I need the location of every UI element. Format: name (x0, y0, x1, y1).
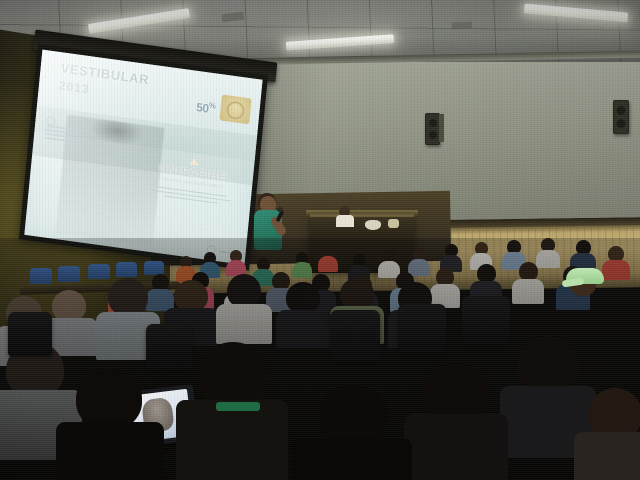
speaker-cone (617, 106, 626, 115)
discount-symbol: % (208, 101, 215, 111)
logo-triangle-inner (189, 157, 200, 165)
seated-person-at-podium (336, 206, 354, 226)
audience-member (176, 342, 288, 462)
podium-object-1 (365, 220, 381, 230)
lecture-hall-photo: VESTIBULAR 2013 50% UNIFAFIBE CENTRO UNI… (0, 0, 640, 480)
seal-ring (226, 100, 246, 120)
discount-badge: 50% (196, 99, 216, 117)
speaker-bracket (439, 114, 444, 142)
audience-member (404, 362, 508, 480)
wall-speaker-right-icon (613, 100, 629, 134)
seal-emblem-icon (220, 95, 252, 125)
audience-member (292, 384, 412, 480)
audience-member (56, 368, 164, 480)
speaker-cone (617, 119, 626, 128)
audience (0, 238, 640, 480)
podium-object-2 (388, 219, 399, 228)
speaker-cone (429, 131, 437, 139)
discount-value: 50 (196, 100, 210, 116)
screen-surface: VESTIBULAR 2013 50% UNIFAFIBE CENTRO UNI… (24, 50, 262, 265)
audience-member (574, 388, 640, 480)
wall-speaker-left-icon (425, 113, 440, 145)
torso (336, 215, 354, 227)
microphone-head (277, 207, 283, 212)
collar (216, 402, 260, 411)
audience-member-with-cap (562, 266, 608, 312)
speaker-cone (429, 119, 437, 127)
